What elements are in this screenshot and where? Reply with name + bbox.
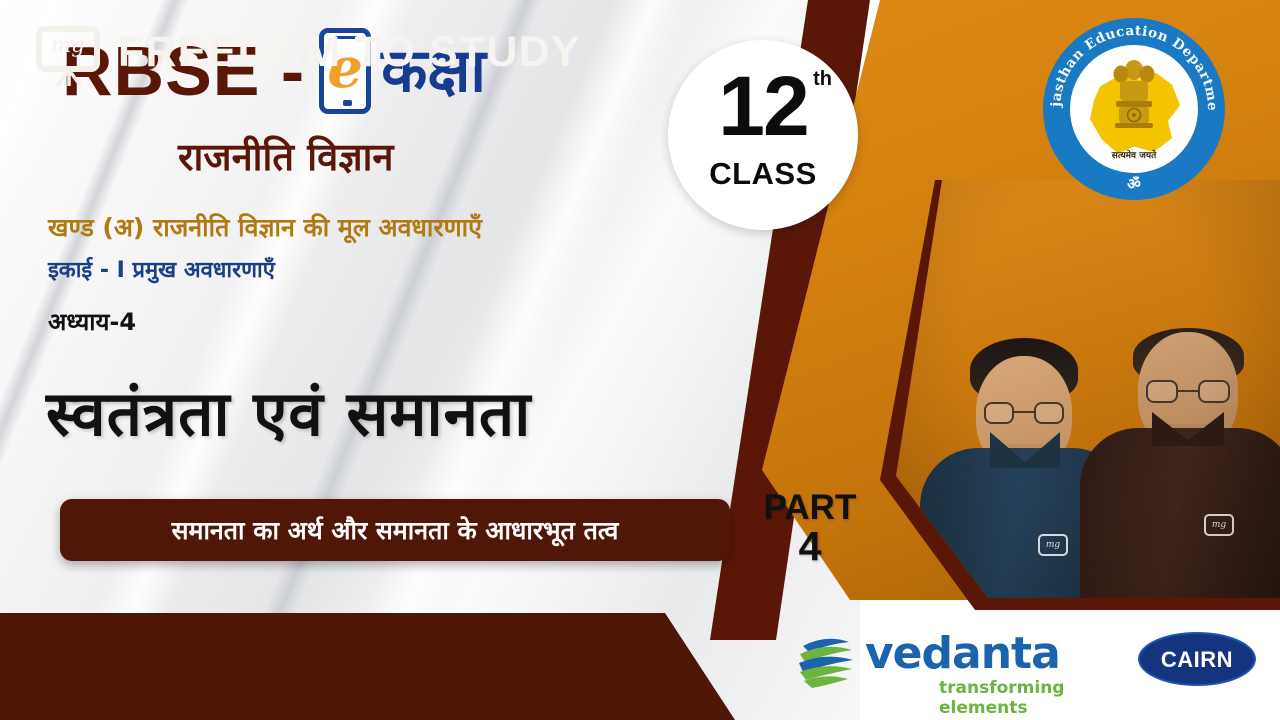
emblem-bottom-mark: ॐ [1043, 174, 1225, 194]
cairn-logo: CAIRN [1138, 632, 1256, 686]
shirt-mg-logo: mg [1038, 534, 1068, 556]
thumbnail-canvas: mg mg RBSE - e कक्षा राजनीति विज्ञान [0, 0, 1280, 720]
instructors-photo: mg mg [890, 180, 1280, 598]
emblem-motto: सत्यमेव जयते [1070, 148, 1198, 161]
mg-letters: mg [32, 33, 104, 57]
mg-brand-icon: mg [32, 22, 104, 84]
class-badge: 12 th CLASS [668, 40, 858, 230]
cairn-wordmark: CAIRN [1138, 647, 1256, 673]
part-number: 4 [745, 526, 875, 568]
rajasthan-education-department-emblem: Rajasthan Education Department सत्यमेव ज… [1043, 18, 1225, 200]
emblem-center: सत्यमेव जयते [1070, 45, 1198, 173]
vedanta-logo: vedanta transforming elements [795, 624, 1115, 702]
instructor-male: mg [1080, 248, 1280, 598]
footer-tagline: FREEDOM TO STUDY [118, 28, 581, 690]
part-label: PART [745, 490, 875, 526]
vedanta-tagline: transforming elements [939, 678, 1115, 718]
ashoka-lion-capital-icon [1108, 57, 1160, 143]
vedanta-globe-icon [795, 632, 857, 694]
part-indicator: PART 4 [745, 490, 875, 568]
vedanta-wordmark: vedanta [865, 628, 1060, 679]
shirt-mg-logo: mg [1204, 514, 1234, 536]
class-word: CLASS [668, 156, 858, 192]
board-legs [52, 70, 86, 86]
class-ordinal: th [813, 68, 832, 91]
torso [1080, 428, 1280, 598]
